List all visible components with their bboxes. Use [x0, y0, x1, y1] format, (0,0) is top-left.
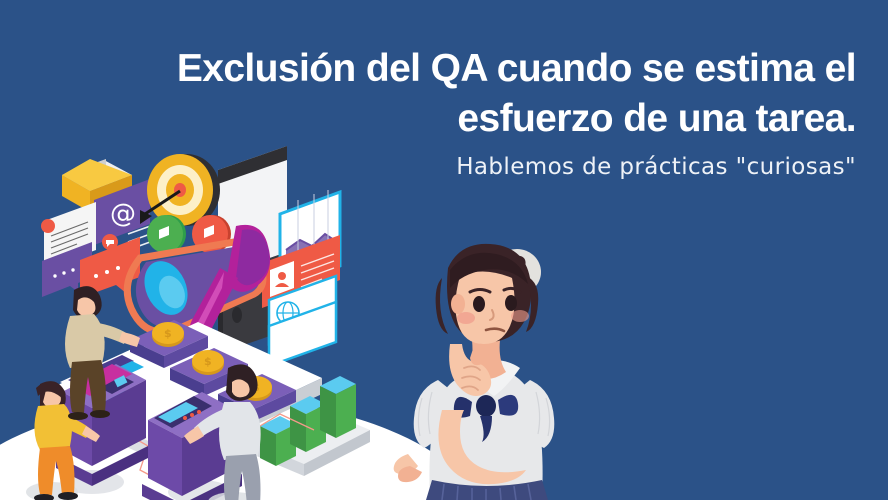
- isometric-illustration: @: [22, 130, 392, 500]
- thinking-woman-illustration: ?: [380, 228, 590, 500]
- svg-text:@: @: [110, 199, 136, 229]
- thumbs-up-icon: [147, 215, 186, 253]
- svg-text:$: $: [164, 327, 172, 340]
- svg-text:$: $: [204, 355, 212, 368]
- slide-canvas: @: [0, 0, 888, 500]
- heading-line-1: Exclusión del QA cuando se estima el: [60, 44, 856, 94]
